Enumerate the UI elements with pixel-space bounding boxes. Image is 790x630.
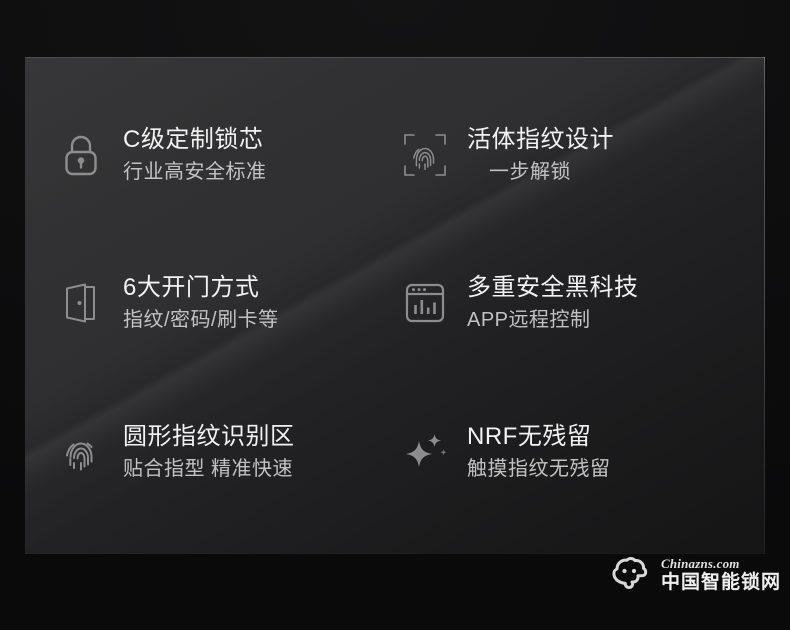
watermark: Chinazns.com 中国智能锁网 (608, 556, 781, 592)
feature-subtitle: 一步解锁 (467, 161, 614, 184)
browser-chart-icon (399, 277, 451, 329)
feature-item-no-residue: NRF无残留 触摸指纹无残留 (397, 378, 747, 526)
feature-subtitle: 触摸指纹无残留 (467, 458, 611, 481)
feature-subtitle: 贴合指型 精准快速 (123, 458, 295, 481)
feature-item-lock-core: C级定制锁芯 行业高安全标准 (47, 81, 397, 229)
watermark-domain: Chinazns.com (661, 557, 781, 570)
feature-title: NRF无残留 (467, 423, 611, 451)
feature-item-security-tech: 多重安全黑科技 APP远程控制 (397, 229, 747, 377)
feature-panel: C级定制锁芯 行业高安全标准 (25, 57, 765, 554)
feature-item-fingerprint-area: 圆形指纹识别区 贴合指型 精准快速 (47, 378, 397, 526)
feature-item-open-methods: 6大开门方式 指纹/密码/刷卡等 (47, 229, 397, 377)
feature-subtitle: APP远程控制 (467, 309, 639, 332)
feature-title: 圆形指纹识别区 (123, 423, 295, 451)
feature-text-block: C级定制锁芯 行业高安全标准 (123, 126, 267, 184)
feature-item-live-fingerprint: 活体指纹设计 一步解锁 (397, 81, 747, 229)
feature-subtitle: 指纹/密码/刷卡等 (123, 309, 279, 332)
fingerprint-icon (55, 426, 107, 478)
cloud-mascot-logo-icon (608, 556, 654, 592)
feature-text-block: 多重安全黑科技 APP远程控制 (467, 274, 639, 332)
open-door-icon (55, 277, 107, 329)
feature-title: C级定制锁芯 (123, 126, 267, 154)
watermark-name: 中国智能锁网 (661, 573, 781, 592)
watermark-text: Chinazns.com 中国智能锁网 (661, 557, 781, 592)
sparkle-icon (399, 426, 451, 478)
feature-grid: C级定制锁芯 行业高安全标准 (25, 57, 765, 554)
feature-subtitle: 行业高安全标准 (123, 161, 267, 184)
padlock-icon (55, 129, 107, 181)
feature-text-block: NRF无残留 触摸指纹无残留 (467, 423, 611, 481)
feature-text-block: 6大开门方式 指纹/密码/刷卡等 (123, 274, 279, 332)
feature-title: 活体指纹设计 (467, 126, 614, 154)
fingerprint-scan-icon (399, 129, 451, 181)
feature-title: 多重安全黑科技 (467, 274, 639, 302)
feature-title: 6大开门方式 (123, 274, 279, 302)
feature-text-block: 活体指纹设计 一步解锁 (467, 126, 614, 184)
feature-text-block: 圆形指纹识别区 贴合指型 精准快速 (123, 423, 295, 481)
screenshot-root: C级定制锁芯 行业高安全标准 (0, 0, 790, 630)
